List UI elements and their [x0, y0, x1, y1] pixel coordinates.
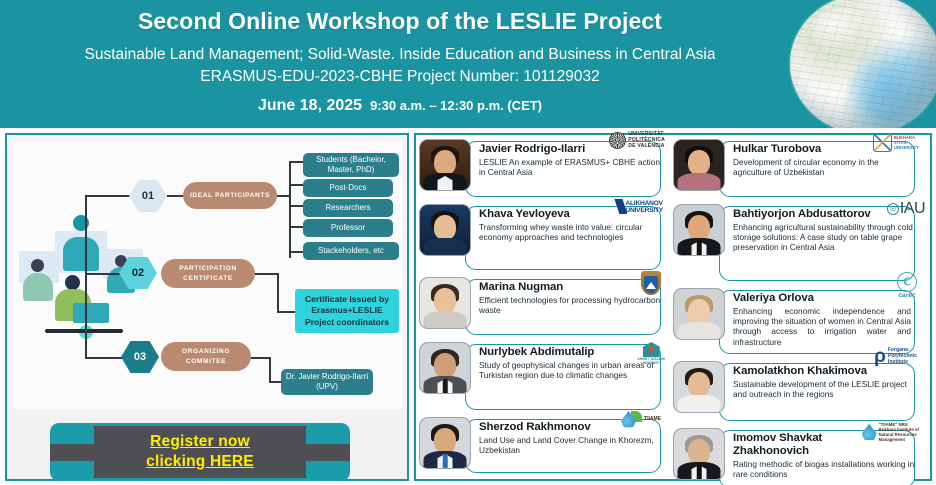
speaker-topic: Development of circular economy in the a… — [733, 157, 917, 177]
speaker-card-sherzod-rakhmonov[interactable]: Sherzod Rakhmonov Land Use and Land Cove… — [419, 415, 667, 475]
photo-valeriya-orlova — [673, 288, 725, 340]
photo-bahtiyorjon-abdusattorov — [673, 204, 725, 256]
flow-line — [255, 273, 277, 275]
card-text: Hulkar Turobova Development of circular … — [725, 137, 921, 181]
card-text: Marina Nugman Efficient technologies for… — [471, 275, 667, 319]
speaker-name: Bahtiyorjon Abdusattorov — [733, 208, 917, 221]
speaker-topic: Rating methodic of biogas installations … — [733, 459, 917, 479]
speaker-card-nurlybek-abdimutalip[interactable]: Nurlybek Abdimutalip Study of geophysica… — [419, 340, 667, 412]
left-info-panel: 01 IDEAL PARTICIPANTS Students (Bachelor… — [5, 133, 409, 481]
speaker-card-javier-rodrigo-ilarri[interactable]: Javier Rodrigo-Ilarri LESLIE An example … — [419, 137, 667, 199]
workshop-poster: Second Online Workshop of the LESLIE Pro… — [0, 0, 936, 485]
step-number-03: 03 — [121, 340, 159, 374]
speaker-card-hulkar-turobova[interactable]: Hulkar Turobova Development of circular … — [673, 137, 921, 199]
flow-line — [289, 161, 291, 258]
step-number-01: 01 — [129, 179, 167, 213]
flow-line — [85, 357, 123, 359]
header-subtitle-1: Sustainable Land Management; Solid-Waste… — [85, 44, 716, 66]
card-text: Khava Yevloyeva Transforming whey waste … — [471, 202, 667, 246]
register-button-label[interactable]: Register now clicking HERE — [50, 423, 350, 481]
photo-khava-yevloyeva — [419, 204, 471, 256]
card-text: Nurlybek Abdimutalip Study of geophysica… — [471, 340, 667, 384]
speaker-topic: Transforming whey waste into value: circ… — [479, 222, 663, 242]
card-text: Kamolatkhon Khakimova Sustainable develo… — [725, 359, 921, 403]
speaker-name: Javier Rodrigo-Ilarri — [479, 143, 663, 156]
speaker-topic: Enhancing agricultural sustainability th… — [733, 222, 917, 253]
participant-type-post-docs: Post-Docs — [303, 179, 393, 197]
card-text: Sherzod Rakhmonov Land Use and Land Cove… — [471, 415, 667, 459]
flow-line — [85, 195, 131, 197]
step-label-01: IDEAL PARTICIPANTS — [183, 182, 277, 209]
flow-line — [277, 195, 289, 197]
register-line-1: Register now — [150, 432, 250, 452]
speaker-card-marina-nugman[interactable]: Marina Nugman Efficient technologies for… — [419, 275, 667, 337]
card-text: Javier Rodrigo-Ilarri LESLIE An example … — [471, 137, 667, 181]
organizing-committee-member: Dr. Javier Rodrigo-Ilarri (UPV) — [281, 369, 373, 395]
globe-icon — [790, 0, 936, 128]
photo-imomov-shavkat-zhakhonovich — [673, 428, 725, 480]
certificate-issuer-note: Certificate Issued by Erasmus+LESLIE Pro… — [295, 289, 399, 333]
speaker-card-valeriya-orlova[interactable]: Valeriya Orlova Enhancing economic indep… — [673, 286, 921, 356]
photo-sherzod-rakhmonov — [419, 417, 471, 469]
participant-type-professor: Professor — [303, 219, 393, 237]
register-button[interactable]: Register now clicking HERE — [50, 423, 350, 481]
participant-type-stakeholders: Stackeholders, etc — [303, 242, 399, 260]
speaker-name: Sherzod Rakhmonov — [479, 421, 663, 434]
speaker-name: Marina Nugman — [479, 281, 663, 294]
speaker-name: Khava Yevloyeva — [479, 208, 663, 221]
flow-line — [269, 357, 271, 381]
speaker-topic: Enhancing economic independence and impr… — [733, 306, 917, 347]
page-title: Second Online Workshop of the LESLIE Pro… — [138, 6, 662, 36]
photo-marina-nugman — [419, 277, 471, 329]
speaker-topic: Sustainable development of the LESLIE pr… — [733, 379, 917, 399]
speaker-topic: Study of geophysical changes in urban ar… — [479, 360, 663, 380]
card-text: Imomov Shavkat Zhakhonovich Rating metho… — [725, 426, 921, 483]
speaker-topic: Land Use and Land Cover Change in Khorez… — [479, 435, 663, 455]
globe-highlight — [811, 8, 878, 53]
step-label-03: ORGANIZING COMMITEE — [161, 342, 251, 371]
speaker-card-imomov-shavkat-zhakhonovich[interactable]: Imomov Shavkat Zhakhonovich Rating metho… — [673, 426, 921, 485]
speaker-card-khava-yevloyeva[interactable]: Khava Yevloyeva Transforming whey waste … — [419, 202, 667, 272]
speaker-card-bahtiyorjon-abdusattorov[interactable]: Bahtiyorjon Abdusattorov Enhancing agric… — [673, 202, 921, 283]
speaker-name: Imomov Shavkat Zhakhonovich — [733, 432, 917, 458]
speaker-name: Valeriya Orlova — [733, 292, 917, 305]
participant-type-students: Students (Bachelor, Master, PhD) — [303, 153, 399, 177]
participant-type-researchers: Researchers — [303, 199, 393, 217]
speaker-card-kamolatkhon-khakimova[interactable]: Kamolatkhon Khakimova Sustainable develo… — [673, 359, 921, 423]
speakers-left-column: Javier Rodrigo-Ilarri LESLIE An example … — [419, 137, 667, 478]
step-label-02: PARTICIPATION CERTIFICATE — [161, 259, 255, 288]
speaker-topic: Efficient technologies for processing hy… — [479, 295, 663, 315]
poster-header: Second Online Workshop of the LESLIE Pro… — [0, 0, 936, 128]
card-text: Valeriya Orlova Enhancing economic indep… — [725, 286, 921, 351]
flow-line — [85, 273, 87, 357]
header-subtitle-2: ERASMUS-EDU-2023-CBHE Project Number: 10… — [200, 66, 599, 87]
photo-javier-rodrigo-ilarri — [419, 139, 471, 191]
flow-line — [85, 195, 87, 275]
speaker-name: Nurlybek Abdimutalip — [479, 346, 663, 359]
participation-diagram: 01 IDEAL PARTICIPANTS Students (Bachelor… — [13, 141, 403, 409]
header-text-block: Second Online Workshop of the LESLIE Pro… — [0, 0, 800, 128]
photo-hulkar-turobova — [673, 139, 725, 191]
speaker-name: Kamolatkhon Khakimova — [733, 365, 917, 378]
card-text: Bahtiyorjon Abdusattorov Enhancing agric… — [725, 202, 921, 257]
register-line-2: clicking HERE — [146, 452, 254, 472]
header-date-row: June 18, 2025 9:30 a.m. – 12:30 p.m. (CE… — [258, 97, 542, 115]
flow-line — [251, 357, 269, 359]
photo-nurlybek-abdimutalip — [419, 342, 471, 394]
flow-line — [277, 273, 279, 311]
speaker-topic: LESLIE An example of ERASMUS+ CBHE actio… — [479, 157, 663, 177]
speakers-right-column: Hulkar Turobova Development of circular … — [673, 137, 921, 485]
speaker-name: Hulkar Turobova — [733, 143, 917, 156]
event-time: 9:30 a.m. – 12:30 p.m. (CET) — [370, 98, 542, 113]
event-date: June 18, 2025 — [258, 97, 362, 115]
flow-line — [85, 273, 121, 275]
speakers-panel: Javier Rodrigo-Ilarri LESLIE An example … — [414, 133, 932, 481]
photo-kamolatkhon-khakimova — [673, 361, 725, 413]
